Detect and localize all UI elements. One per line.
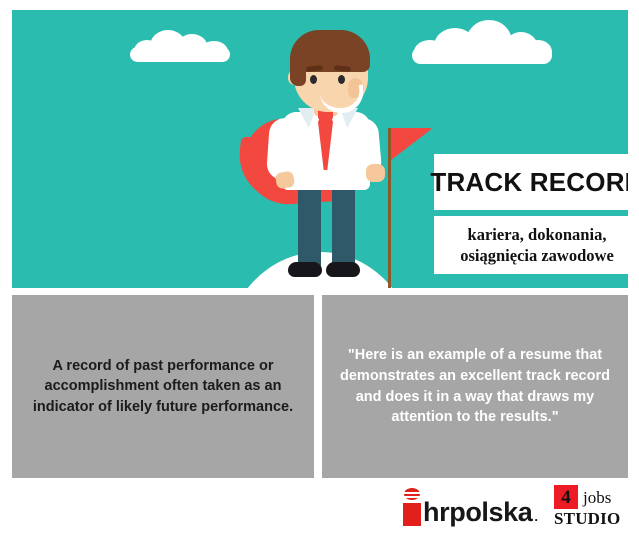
banner-title: TRACK RECORD: [434, 154, 628, 210]
definition-text: A record of past performance or accompli…: [30, 356, 296, 418]
fourjobs-jobs-text: jobs: [583, 489, 611, 506]
hrpolska-mark-icon: [403, 488, 421, 526]
cloud-puff: [524, 40, 552, 64]
hrpolska-logo[interactable]: hrpolska .: [403, 486, 538, 526]
shoe-right: [326, 262, 360, 277]
cloud-puff: [504, 32, 538, 64]
cloud-puff: [466, 20, 512, 64]
cloud-puff: [200, 41, 228, 62]
eye-left: [310, 75, 317, 84]
fourjobs-top-row: 4 jobs: [554, 485, 624, 509]
hand-right: [366, 164, 385, 182]
shoe-left: [288, 262, 322, 277]
definition-panel: A record of past performance or accompli…: [12, 295, 314, 478]
cloud-puff: [150, 30, 186, 62]
superhero-businessman-illustration: [240, 22, 420, 288]
cloud-puff: [134, 40, 160, 62]
eye-right: [338, 75, 345, 84]
footer-logos: hrpolska . 4 jobs STUDIO: [12, 482, 628, 530]
leg-left: [298, 182, 321, 268]
cloud-base: [130, 47, 230, 62]
hrpolska-dot-icon: [404, 488, 420, 500]
leg-right: [332, 182, 355, 268]
quote-panel: "Here is an example of a resume that dem…: [322, 295, 628, 478]
hero-panel: TRACK RECORD kariera, dokonania, osiągni…: [12, 10, 628, 288]
cloud-icon-right: [412, 24, 552, 64]
hrpolska-bar-icon: [403, 503, 421, 526]
cloud-puff: [176, 34, 208, 62]
cloud-puff: [434, 28, 476, 64]
legs-group: [292, 182, 360, 274]
infographic-page: TRACK RECORD kariera, dokonania, osiągni…: [0, 0, 639, 536]
fourjobs-studio-logo[interactable]: 4 jobs STUDIO: [554, 485, 624, 527]
banner-subtitle: kariera, dokonania, osiągnięcia zawodowe: [434, 216, 628, 274]
flag-pole: [388, 128, 391, 288]
hair-sideburn: [290, 52, 306, 86]
quote-text: "Here is an example of a resume that dem…: [340, 345, 610, 427]
cloud-icon-left: [130, 28, 230, 62]
hero-title-text: TRACK RECORD: [430, 167, 628, 198]
hero-subtitle-line1: kariera, dokonania,: [468, 225, 607, 244]
flag-icon: [391, 128, 433, 160]
hrpolska-dot-suffix: .: [534, 510, 538, 523]
fourjobs-number-badge: 4: [554, 485, 578, 509]
hero-subtitle-text: kariera, dokonania, osiągnięcia zawodowe: [460, 224, 614, 266]
hrpolska-wordmark: hrpolska: [423, 499, 532, 526]
fourjobs-studio-text: STUDIO: [554, 510, 624, 527]
hero-subtitle-line2: osiągnięcia zawodowe: [460, 246, 614, 265]
cloud-base: [412, 47, 552, 64]
